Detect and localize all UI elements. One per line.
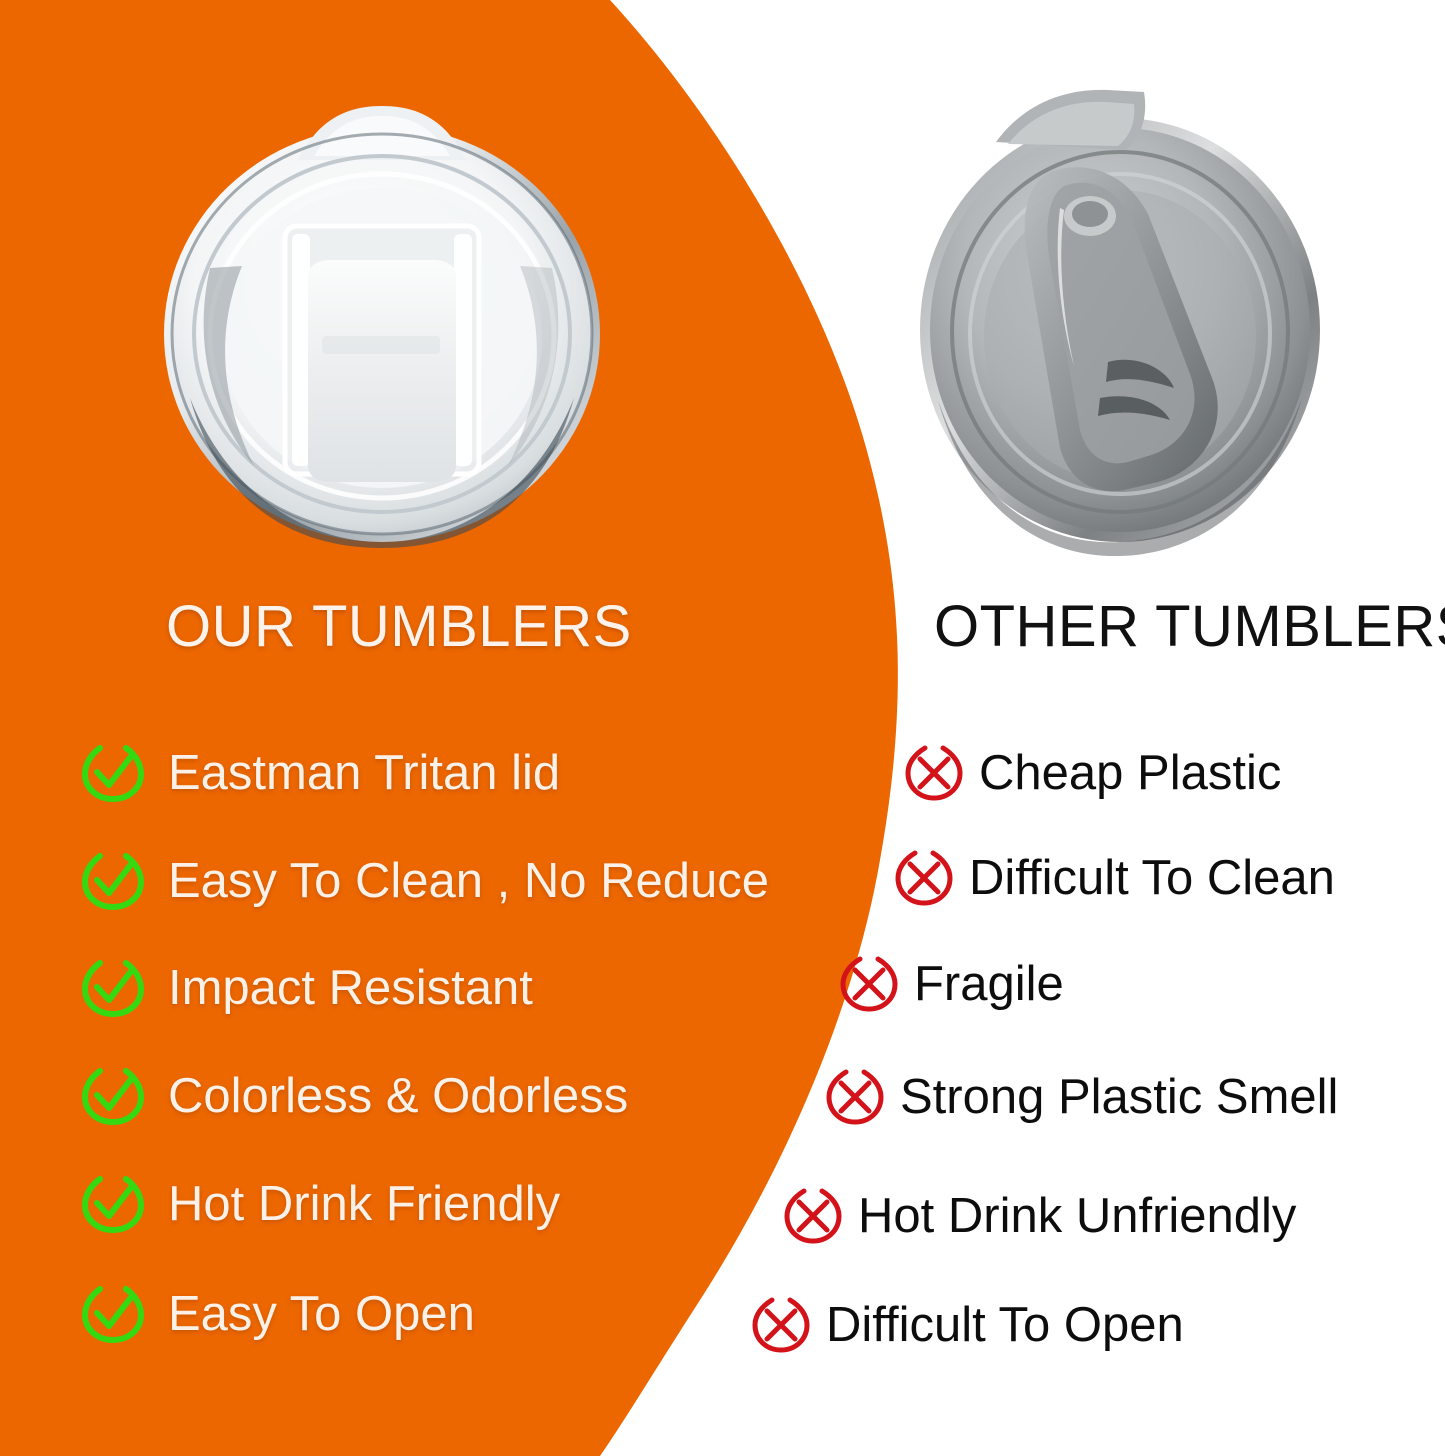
other-tumbler-lid-image — [912, 80, 1342, 560]
list-item-label: Hot Drink Unfriendly — [858, 1192, 1296, 1241]
list-item-label: Fragile — [914, 960, 1064, 1009]
other-tumblers-heading: OTHER TUMBLERS — [934, 598, 1445, 656]
list-item: Colorless & Odorless — [80, 1063, 628, 1129]
check-circle-icon — [80, 848, 146, 914]
list-item: Strong Plastic Smell — [824, 1066, 1338, 1128]
list-item-label: Strong Plastic Smell — [900, 1073, 1338, 1122]
list-item-label: Eastman Tritan lid — [168, 749, 560, 798]
list-item: Easy To Open — [80, 1281, 475, 1347]
list-item-label: Hot Drink Friendly — [168, 1180, 560, 1229]
list-item-label: Impact Resistant — [168, 964, 533, 1013]
cross-circle-icon — [893, 847, 955, 909]
our-tumblers-heading: OUR TUMBLERS — [166, 598, 632, 656]
list-item: Hot Drink Unfriendly — [782, 1185, 1296, 1247]
list-item-label: Colorless & Odorless — [168, 1072, 628, 1121]
list-item-label: Easy To Open — [168, 1290, 475, 1339]
cross-circle-icon — [903, 742, 965, 804]
check-circle-icon — [80, 1281, 146, 1347]
list-item: Eastman Tritan lid — [80, 740, 560, 806]
check-circle-icon — [80, 740, 146, 806]
check-circle-icon — [80, 1171, 146, 1237]
list-item: Difficult To Open — [750, 1294, 1184, 1356]
list-item: Easy To Clean , No Reduce — [80, 848, 769, 914]
list-item-label: Cheap Plastic — [979, 749, 1281, 798]
list-item: Impact Resistant — [80, 955, 533, 1021]
list-item: Fragile — [838, 953, 1064, 1015]
check-circle-icon — [80, 955, 146, 1021]
our-tumbler-lid-image — [150, 98, 610, 548]
list-item: Difficult To Clean — [893, 847, 1335, 909]
comparison-infographic: OUR TUMBLERS OTHER TUMBLERS Eastman Trit… — [0, 0, 1445, 1456]
cross-circle-icon — [782, 1185, 844, 1247]
list-item-label: Difficult To Clean — [969, 854, 1335, 903]
list-item: Cheap Plastic — [903, 742, 1281, 804]
cross-circle-icon — [838, 953, 900, 1015]
list-item: Hot Drink Friendly — [80, 1171, 560, 1237]
list-item-label: Difficult To Open — [826, 1301, 1184, 1350]
cross-circle-icon — [824, 1066, 886, 1128]
check-circle-icon — [80, 1063, 146, 1129]
list-item-label: Easy To Clean , No Reduce — [168, 857, 769, 906]
cross-circle-icon — [750, 1294, 812, 1356]
